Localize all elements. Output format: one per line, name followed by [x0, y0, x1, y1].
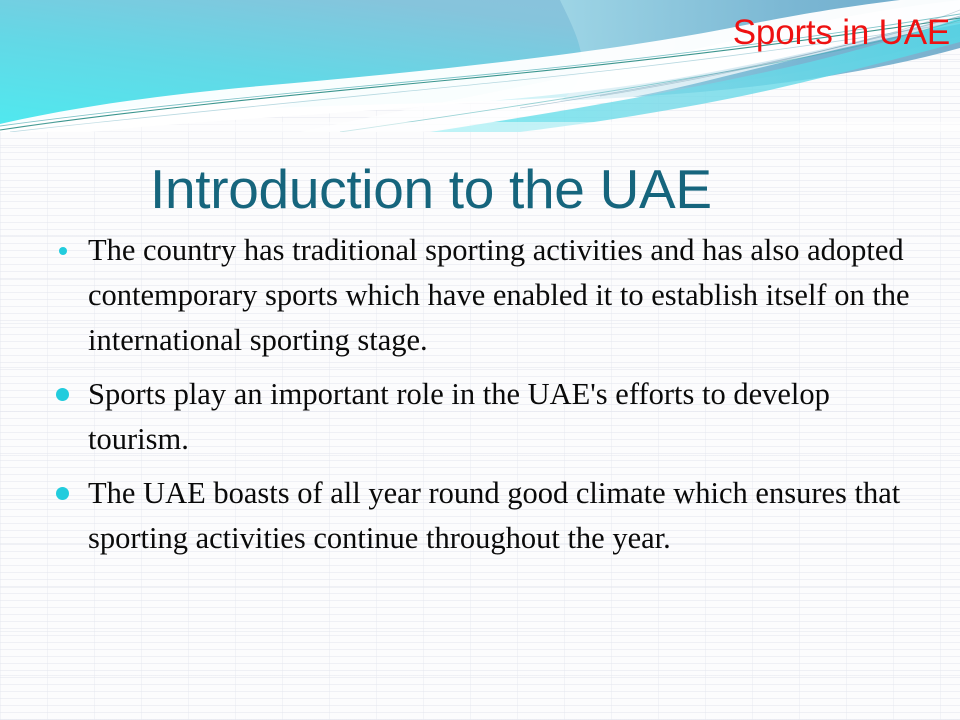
header-title: Sports in UAE: [733, 13, 950, 53]
bullet-dot-icon: [56, 388, 69, 401]
list-item-text: The UAE boasts of all year round good cl…: [88, 471, 924, 561]
list-item: The country has traditional sporting act…: [44, 228, 924, 363]
bullet-list: The country has traditional sporting act…: [44, 228, 924, 561]
list-item-text: The country has traditional sporting act…: [88, 228, 924, 363]
page-title: Introduction to the UAE: [150, 155, 712, 223]
bullet-dot-icon: [56, 487, 69, 500]
bullet-dot-icon: [59, 247, 67, 255]
slide: Sports in UAE Introduction to the UAE Th…: [0, 0, 960, 720]
list-item-text: Sports play an important role in the UAE…: [88, 372, 924, 462]
list-item: Sports play an important role in the UAE…: [44, 372, 924, 462]
list-item: The UAE boasts of all year round good cl…: [44, 471, 924, 561]
